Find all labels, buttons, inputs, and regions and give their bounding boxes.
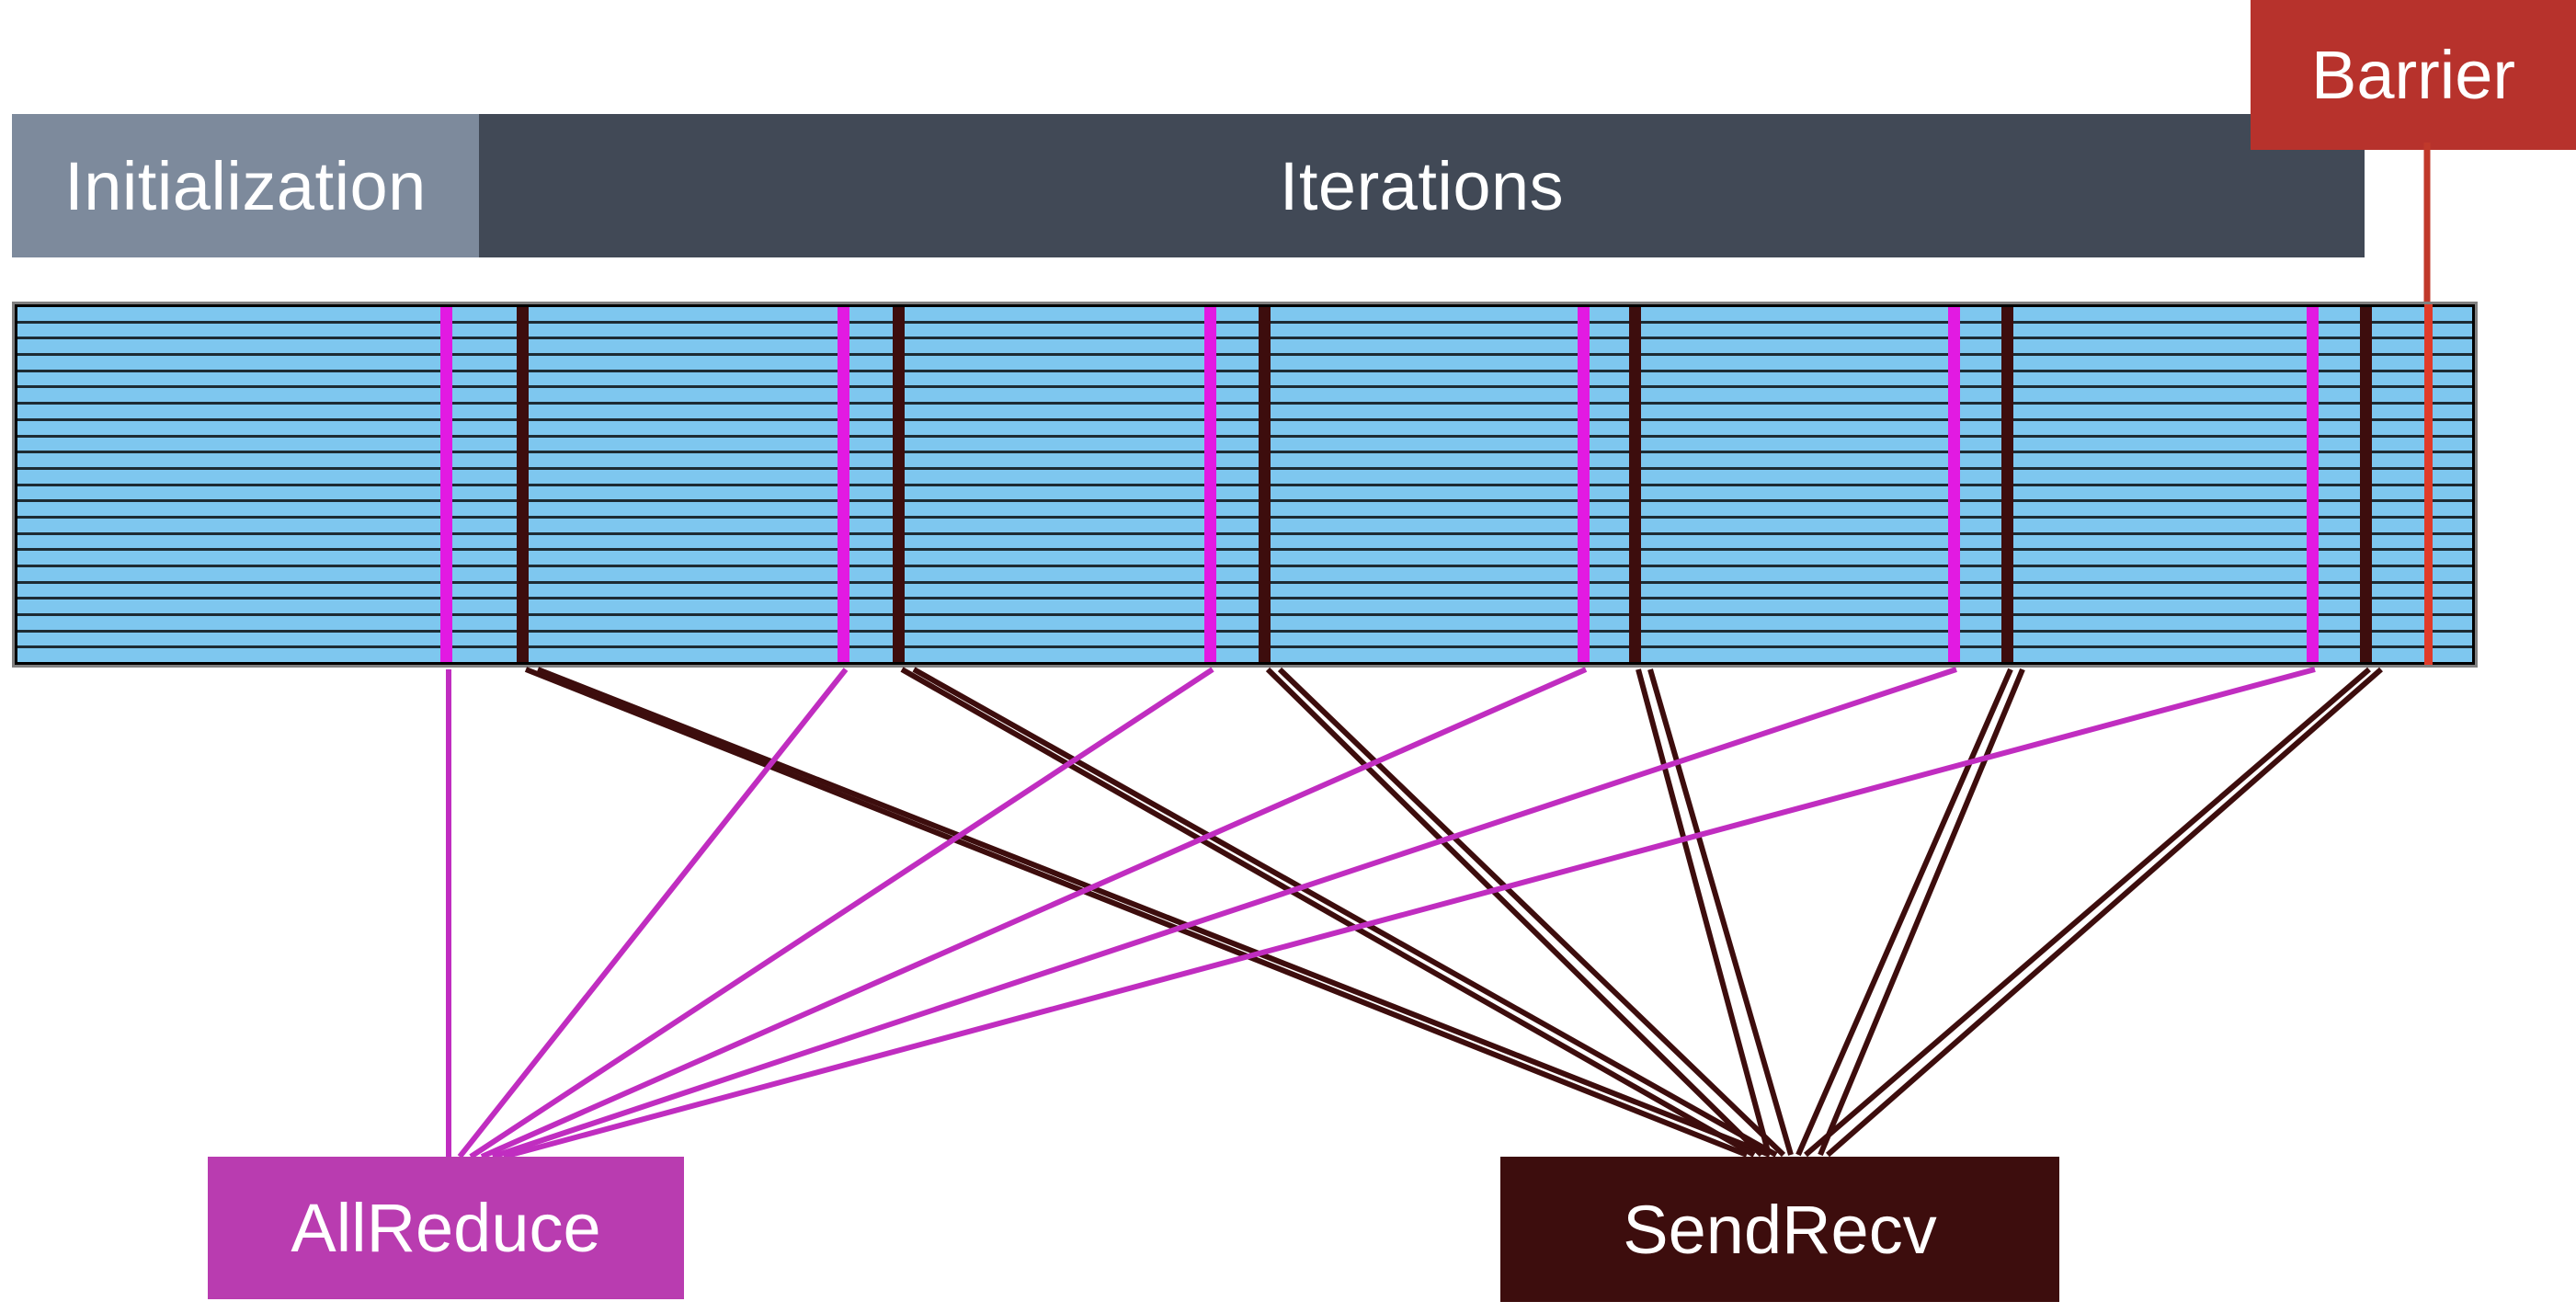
diagram-canvas: Initialization Iterations Barrier: [0, 0, 2576, 1313]
legend-label-sendrecv: SendRecv: [1500, 1157, 2059, 1302]
connector-layer: [0, 0, 2576, 1313]
sendrecv-connectors: [526, 669, 2381, 1155]
legend-label-allreduce: AllReduce: [208, 1157, 684, 1299]
